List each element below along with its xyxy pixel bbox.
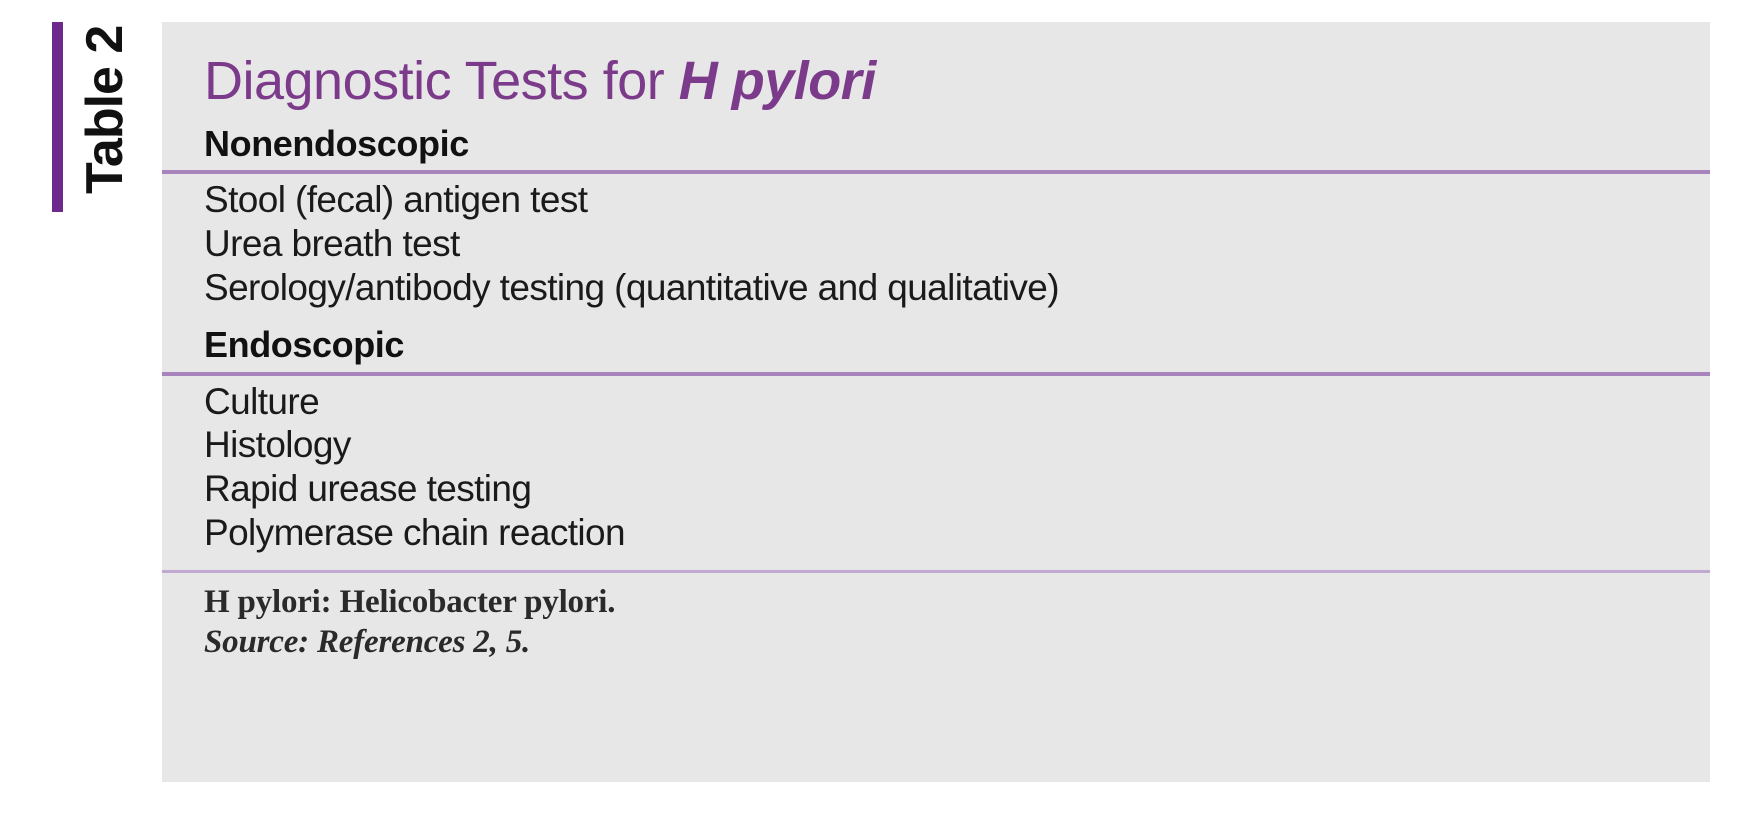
table-figure: Table 2 Diagnostic Tests for H pylori No… — [0, 0, 1750, 814]
list-item: Rapid urease testing — [204, 467, 1676, 511]
list-item: Stool (fecal) antigen test — [204, 178, 1676, 222]
test-list-endoscopic: Culture Histology Rapid urease testing P… — [204, 380, 1676, 571]
section-heading-nonendoscopic: Nonendoscopic — [204, 124, 1676, 170]
section-rule-endoscopic — [162, 372, 1710, 376]
list-item: Histology — [204, 423, 1676, 467]
footnote-abbreviation: H pylori: Helicobacter pylori. — [204, 583, 1676, 623]
table-marker-accent-bar — [52, 22, 63, 212]
list-item: Urea breath test — [204, 222, 1676, 266]
table-marker-label: Table 2 — [76, 4, 134, 194]
table-footnote: H pylori: Helicobacter pylori. Source: R… — [204, 573, 1676, 662]
table-title-organism: H pylori — [679, 51, 876, 111]
table-title: Diagnostic Tests for H pylori — [204, 22, 1676, 124]
section-heading-endoscopic: Endoscopic — [204, 325, 1676, 371]
table-number-marker: Table 2 — [52, 22, 152, 212]
test-list-nonendoscopic: Stool (fecal) antigen test Urea breath t… — [204, 178, 1676, 325]
table-panel: Diagnostic Tests for H pylori Nonendosco… — [162, 22, 1710, 782]
footnote-source: Source: References 2, 5. — [204, 623, 1676, 663]
section-rule-nonendoscopic — [162, 170, 1710, 174]
list-item: Serology/antibody testing (quantitative … — [204, 266, 1676, 310]
list-item: Culture — [204, 380, 1676, 424]
table-title-prefix: Diagnostic Tests for — [204, 51, 679, 111]
table-panel-inner: Diagnostic Tests for H pylori Nonendosco… — [162, 22, 1710, 782]
list-item: Polymerase chain reaction — [204, 511, 1676, 555]
